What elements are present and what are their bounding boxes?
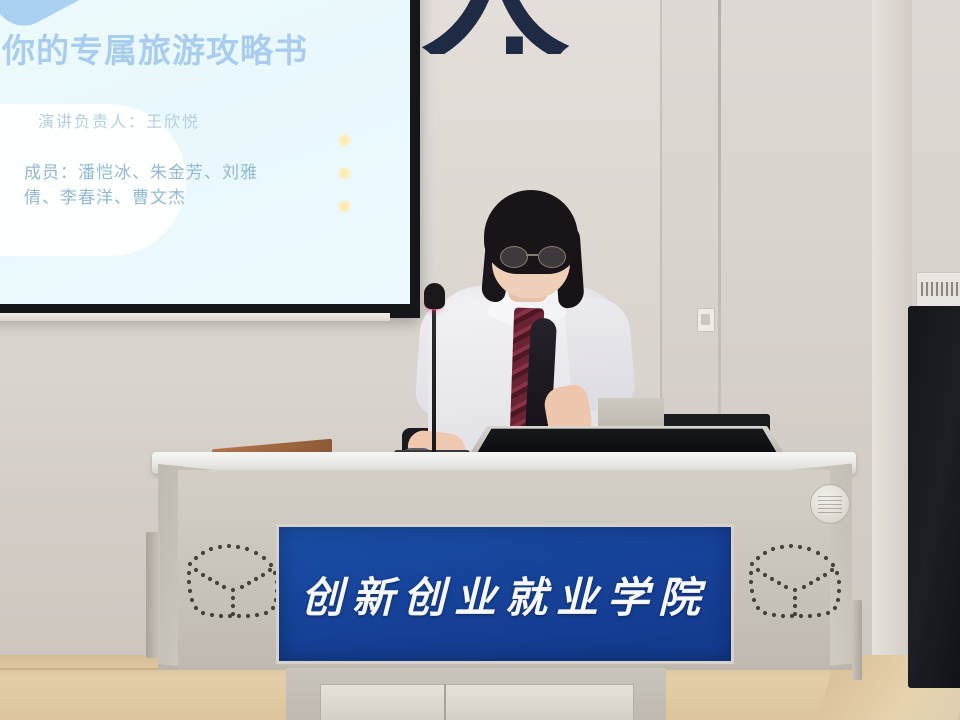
glasses-lens-left bbox=[500, 246, 528, 268]
podium-side-bracket-right bbox=[852, 600, 862, 680]
podium-base-panel bbox=[320, 684, 634, 720]
wall-sign-glyph: 人才 bbox=[400, 0, 590, 54]
podium-base-panel-split bbox=[444, 684, 446, 720]
slide-lead-label: 演讲负责人：王欣悦 bbox=[38, 108, 200, 132]
slide-dot-3-icon bbox=[338, 200, 351, 213]
wall-right-strip bbox=[872, 0, 912, 700]
podium-inspection-sticker bbox=[810, 484, 850, 524]
slide-dot-2-icon bbox=[338, 167, 351, 180]
slide-dot-1-icon bbox=[338, 134, 351, 147]
presentation-scene: 人才 —你的专属旅游攻略书 演讲负责人：王欣悦 成员：潘恺冰、朱金芳、刘雅倩、李… bbox=[0, 0, 960, 720]
wall-vent bbox=[916, 272, 960, 308]
projection-screen-frame: —你的专属旅游攻略书 演讲负责人：王欣悦 成员：潘恺冰、朱金芳、刘雅倩、李春洋、… bbox=[0, 0, 420, 318]
glasses-icon bbox=[500, 246, 566, 266]
gooseneck-mic-stem bbox=[432, 306, 436, 456]
wall-outlet[interactable] bbox=[697, 308, 715, 332]
podium-emblem-left-icon bbox=[180, 534, 288, 620]
slide-title: —你的专属旅游攻略书 bbox=[0, 24, 398, 72]
podium-sign: 创新创业就业学院 bbox=[276, 524, 734, 664]
glasses-lens-right bbox=[538, 246, 566, 268]
podium-side-bracket-left bbox=[146, 532, 160, 658]
glasses-bridge bbox=[526, 254, 538, 256]
podium-sign-text: 创新创业就业学院 bbox=[301, 564, 709, 625]
slide-members-label: 成员：潘恺冰、朱金芳、刘雅倩、李春洋、曹文杰 bbox=[24, 161, 279, 210]
gooseneck-mic-head bbox=[424, 283, 445, 309]
slide-dot-group bbox=[338, 134, 351, 213]
projection-screen-shelf bbox=[0, 313, 390, 321]
wall-mounted-dark-display[interactable] bbox=[908, 306, 960, 688]
projection-screen: —你的专属旅游攻略书 演讲负责人：王欣悦 成员：潘恺冰、朱金芳、刘雅倩、李春洋、… bbox=[0, 0, 410, 304]
podium-emblem-right-icon bbox=[742, 534, 850, 620]
